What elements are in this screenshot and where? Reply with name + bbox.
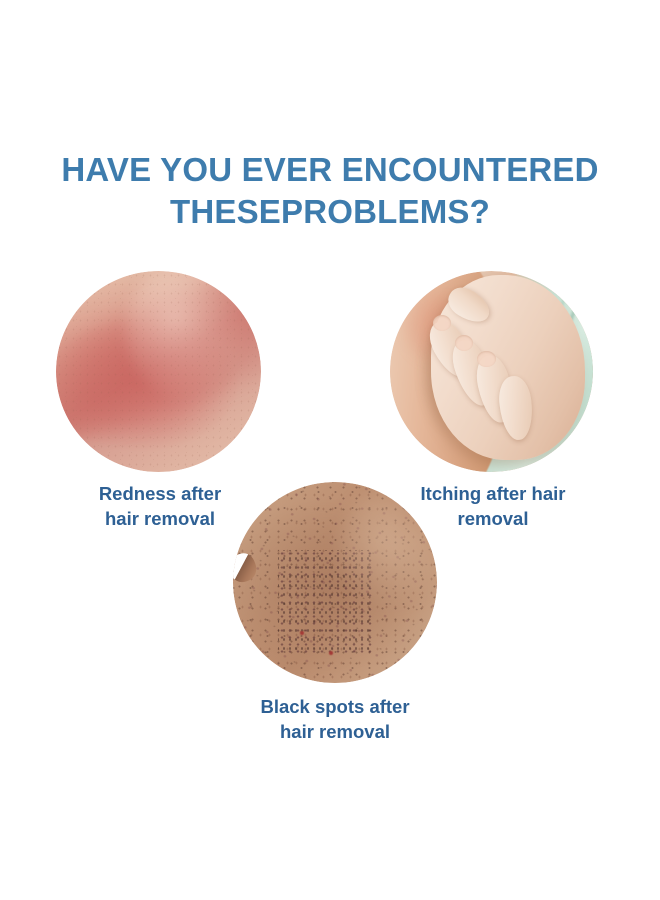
problem-image-redness	[56, 271, 261, 472]
problem-caption-redness: Redness after hair removal	[58, 481, 262, 531]
problem-image-itching	[390, 271, 593, 472]
problem-image-black-spots	[233, 482, 437, 683]
spots-inflamed-dot-1	[329, 651, 333, 655]
spots-photo-inner	[233, 482, 437, 683]
promo-banner: { "page": { "background_color": "#FFFFFF…	[0, 0, 660, 900]
redness-photo-inner	[56, 271, 261, 472]
redness-pore-texture	[56, 271, 261, 472]
itching-photo-inner	[390, 271, 593, 472]
page-title: HAVE YOU EVER ENCOUNTERED THESEPROBLEMS?	[0, 149, 660, 233]
problem-caption-black-spots: Black spots after hair removal	[233, 694, 437, 744]
itching-fingernail-3	[477, 351, 495, 367]
spots-highlight	[339, 486, 437, 607]
